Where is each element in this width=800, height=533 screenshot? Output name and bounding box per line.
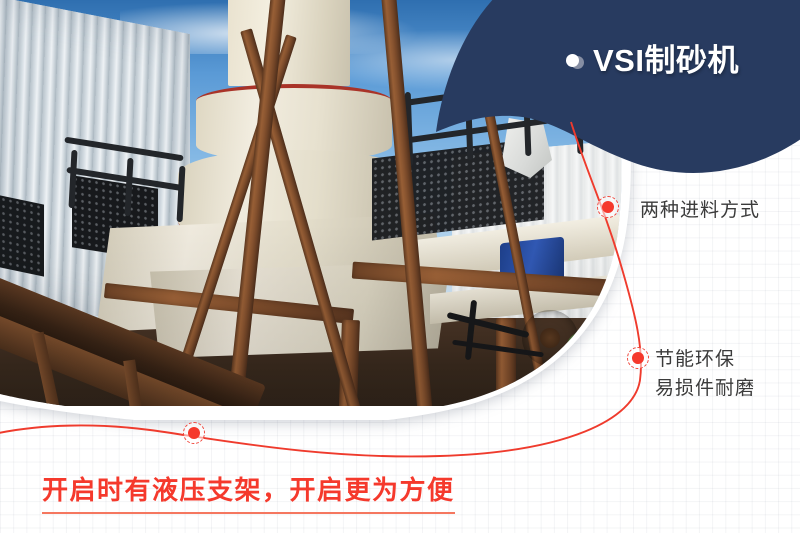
red-dot-marker-feeding[interactable] [597, 196, 619, 218]
callout-energy-saving-line1: 节能环保 [655, 345, 755, 374]
marker-core-icon [632, 352, 644, 364]
callout-energy-saving-line2: 易损件耐磨 [655, 374, 755, 403]
callout-energy-saving: 节能环保 易损件耐磨 [655, 345, 755, 404]
marker-core-icon [602, 201, 614, 213]
red-dot-marker-bottom[interactable] [183, 422, 205, 444]
bullet-dot-icon [566, 54, 579, 67]
callout-feeding-modes: 两种进料方式 [640, 196, 760, 225]
page-title: VSI制砂机 [566, 45, 739, 76]
marker-core-icon [188, 427, 200, 439]
promo-banner: VSI制砂机 两种进料方式 节能环保 易损件耐磨 开启时有液压支架，开启更为方便 [0, 0, 800, 533]
bottom-caption: 开启时有液压支架，开启更为方便 [42, 470, 455, 514]
callout-feeding-modes-line1: 两种进料方式 [640, 196, 760, 225]
page-title-text: VSI制砂机 [593, 45, 739, 76]
red-dot-marker-energy[interactable] [627, 347, 649, 369]
